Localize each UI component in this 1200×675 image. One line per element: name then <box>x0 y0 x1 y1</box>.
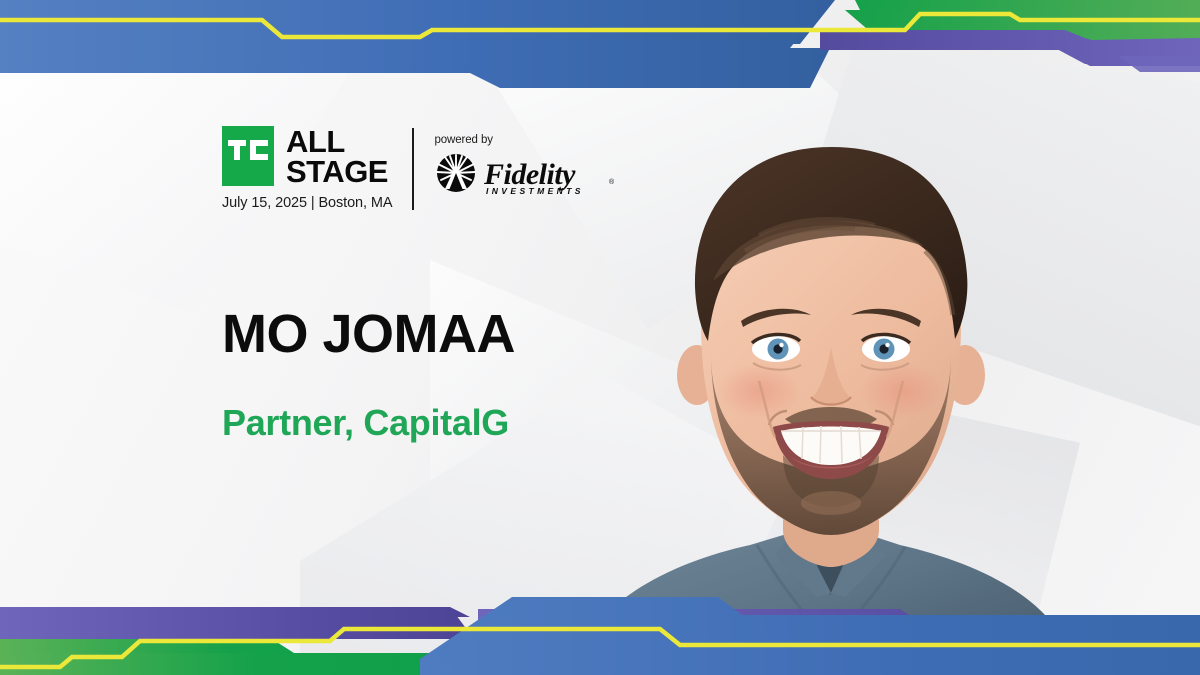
svg-text:®: ® <box>609 178 615 186</box>
speaker-announcement-card: ALL STAGE July 15, 2025 | Boston, MA pow… <box>0 0 1200 675</box>
svg-text:INVESTMENTS: INVESTMENTS <box>486 186 584 196</box>
speaker-name: MO JOMAA <box>222 307 662 361</box>
techcrunch-all-stage-logo: ALL STAGE July 15, 2025 | Boston, MA <box>222 126 392 211</box>
fidelity-wordmark-icon: Fidelity ® INVESTMENTS <box>434 153 620 197</box>
event-name-line-1: ALL <box>286 127 388 157</box>
sponsor-prefix: powered by <box>434 134 620 146</box>
event-name-line-2: STAGE <box>286 157 388 187</box>
speaker-title: Partner, CapitalG <box>222 405 662 441</box>
event-name: ALL STAGE <box>286 126 388 188</box>
techcrunch-logo-icon <box>222 126 274 186</box>
fidelity-logo: Fidelity ® INVESTMENTS <box>434 153 620 197</box>
sponsor-lockup: powered by <box>434 126 620 197</box>
lockup-divider <box>412 128 414 210</box>
event-date-location: July 15, 2025 | Boston, MA <box>222 195 392 211</box>
event-sponsor-lockup: ALL STAGE July 15, 2025 | Boston, MA pow… <box>222 126 662 211</box>
speaker-info-panel: ALL STAGE July 15, 2025 | Boston, MA pow… <box>222 126 662 441</box>
